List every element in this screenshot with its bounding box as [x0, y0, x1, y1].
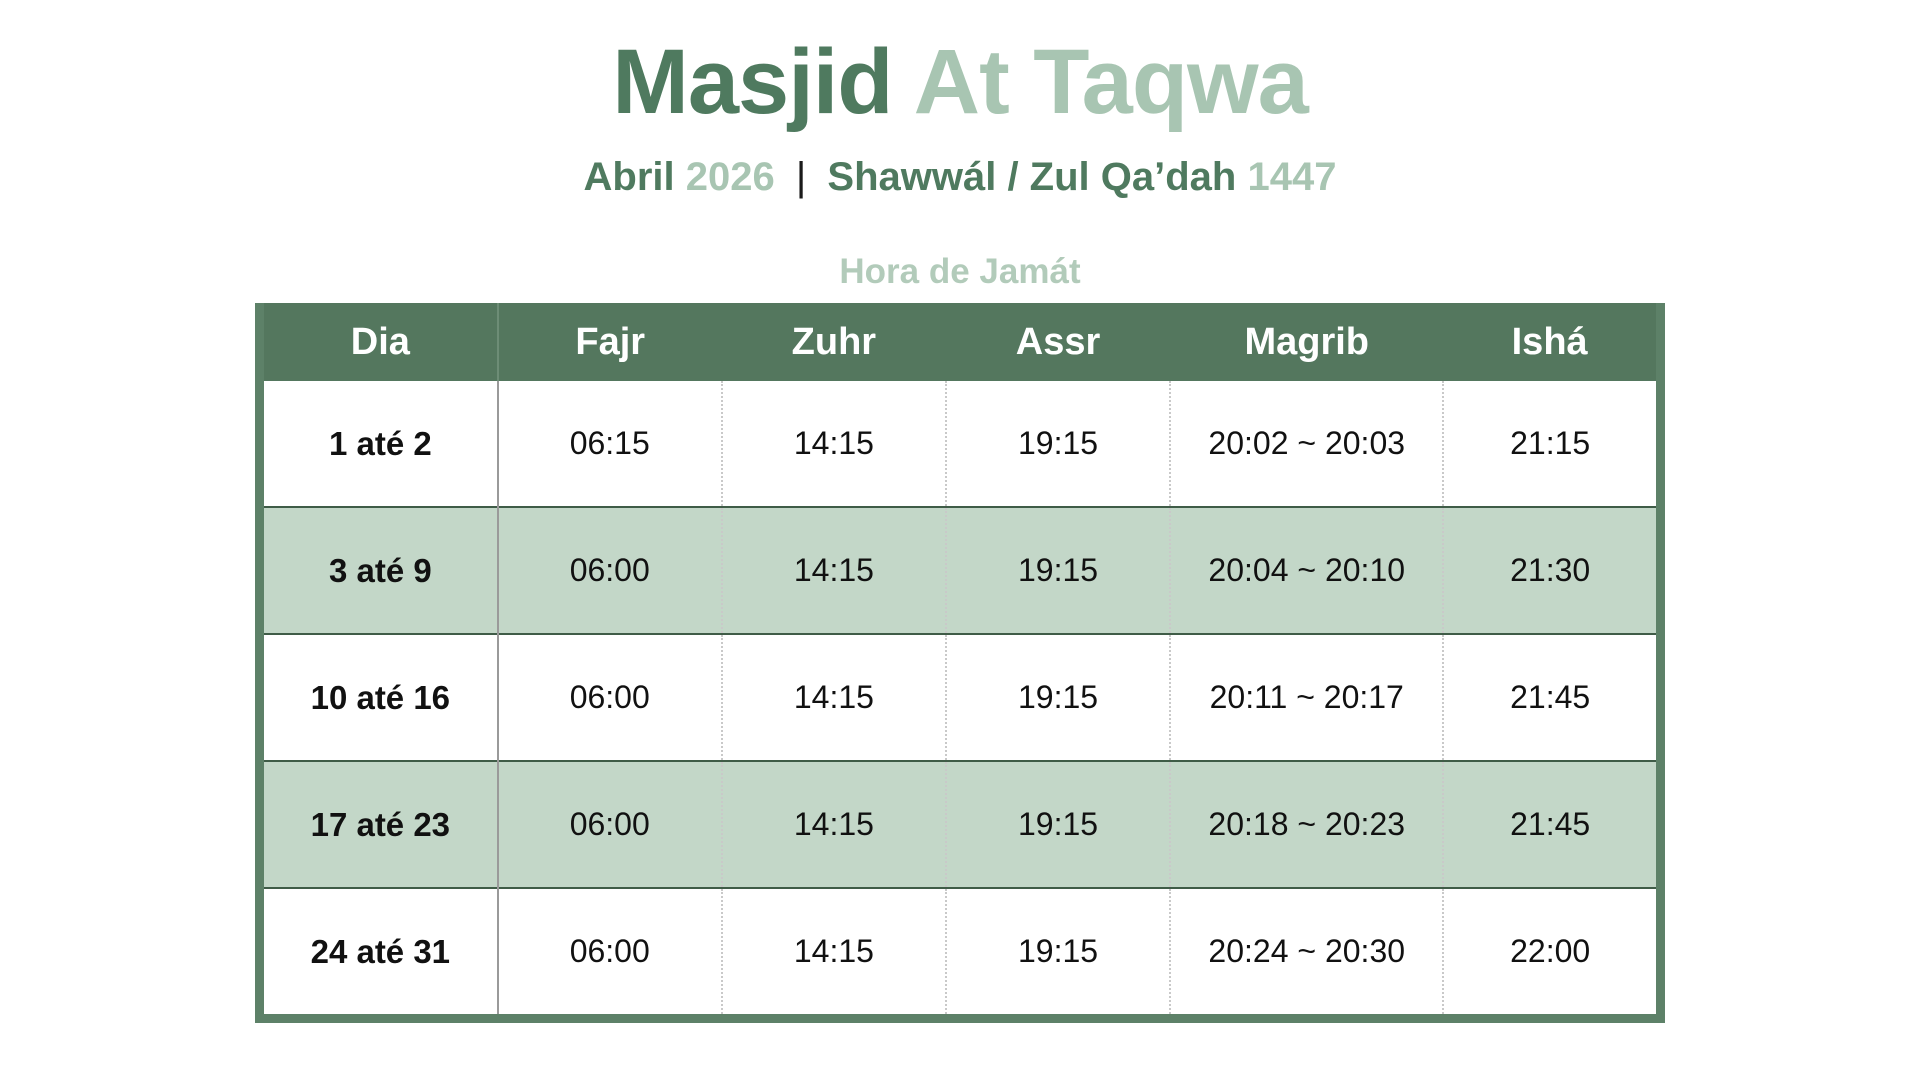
cell-zuhr: 14:15	[722, 761, 946, 888]
cell-dia: 3 até 9	[260, 507, 498, 634]
cell-magrib: 20:24 ~ 20:30	[1170, 888, 1443, 1019]
cell-fajr: 06:00	[498, 634, 722, 761]
column-header-isha: Ishá	[1443, 303, 1660, 381]
subtitle: Abril 2026 | Shawwál / Zul Qa’dah 1447	[0, 153, 1920, 201]
table-row: 17 até 23 06:00 14:15 19:15 20:18 ~ 20:2…	[260, 761, 1661, 888]
cell-isha: 21:30	[1443, 507, 1660, 634]
cell-zuhr: 14:15	[722, 507, 946, 634]
column-header-magrib: Magrib	[1170, 303, 1443, 381]
cell-fajr: 06:00	[498, 761, 722, 888]
column-header-zuhr: Zuhr	[722, 303, 946, 381]
cell-assr: 19:15	[946, 634, 1170, 761]
prayer-timetable-page: Masjid At Taqwa Abril 2026 | Shawwál / Z…	[0, 0, 1920, 1079]
cell-isha: 21:45	[1443, 761, 1660, 888]
subtitle-separator: |	[786, 155, 816, 199]
cell-dia: 24 até 31	[260, 888, 498, 1019]
cell-dia: 10 até 16	[260, 634, 498, 761]
table-row: 3 até 9 06:00 14:15 19:15 20:04 ~ 20:10 …	[260, 507, 1661, 634]
cell-isha: 22:00	[1443, 888, 1660, 1019]
table-body: 1 até 2 06:15 14:15 19:15 20:02 ~ 20:03 …	[260, 381, 1661, 1019]
title-secondary: At Taqwa	[914, 31, 1308, 133]
cell-assr: 19:15	[946, 888, 1170, 1019]
subtitle-gregorian-month: Abril	[584, 155, 675, 199]
subtitle-hijri-year: 1447	[1247, 155, 1336, 199]
table-row: 1 até 2 06:15 14:15 19:15 20:02 ~ 20:03 …	[260, 381, 1661, 507]
table-header-row: Dia Fajr Zuhr Assr Magrib Ishá	[260, 303, 1661, 381]
cell-isha: 21:45	[1443, 634, 1660, 761]
cell-zuhr: 14:15	[722, 381, 946, 507]
cell-magrib: 20:11 ~ 20:17	[1170, 634, 1443, 761]
prayer-times-table-container: Dia Fajr Zuhr Assr Magrib Ishá 1 até 2 0…	[255, 303, 1665, 1023]
cell-fajr: 06:00	[498, 888, 722, 1019]
cell-fajr: 06:15	[498, 381, 722, 507]
subtitle-gregorian-year: 2026	[686, 155, 775, 199]
cell-assr: 19:15	[946, 761, 1170, 888]
table-header: Dia Fajr Zuhr Assr Magrib Ishá	[260, 303, 1661, 381]
masthead: Masjid At Taqwa Abril 2026 | Shawwál / Z…	[0, 0, 1920, 291]
column-header-fajr: Fajr	[498, 303, 722, 381]
cell-magrib: 20:02 ~ 20:03	[1170, 381, 1443, 507]
page-title: Masjid At Taqwa	[0, 34, 1920, 131]
cell-magrib: 20:18 ~ 20:23	[1170, 761, 1443, 888]
cell-dia: 1 até 2	[260, 381, 498, 507]
table-row: 24 até 31 06:00 14:15 19:15 20:24 ~ 20:3…	[260, 888, 1661, 1019]
cell-assr: 19:15	[946, 381, 1170, 507]
cell-isha: 21:15	[1443, 381, 1660, 507]
cell-magrib: 20:04 ~ 20:10	[1170, 507, 1443, 634]
cell-assr: 19:15	[946, 507, 1170, 634]
table-row: 10 até 16 06:00 14:15 19:15 20:11 ~ 20:1…	[260, 634, 1661, 761]
subtitle-hijri-months: Shawwál / Zul Qa’dah	[827, 155, 1236, 199]
column-header-assr: Assr	[946, 303, 1170, 381]
title-primary: Masjid	[612, 31, 892, 133]
section-label-jamat: Hora de Jamát	[0, 253, 1920, 292]
prayer-times-table: Dia Fajr Zuhr Assr Magrib Ishá 1 até 2 0…	[255, 303, 1665, 1023]
cell-dia: 17 até 23	[260, 761, 498, 888]
cell-zuhr: 14:15	[722, 634, 946, 761]
column-header-dia: Dia	[260, 303, 498, 381]
cell-zuhr: 14:15	[722, 888, 946, 1019]
cell-fajr: 06:00	[498, 507, 722, 634]
